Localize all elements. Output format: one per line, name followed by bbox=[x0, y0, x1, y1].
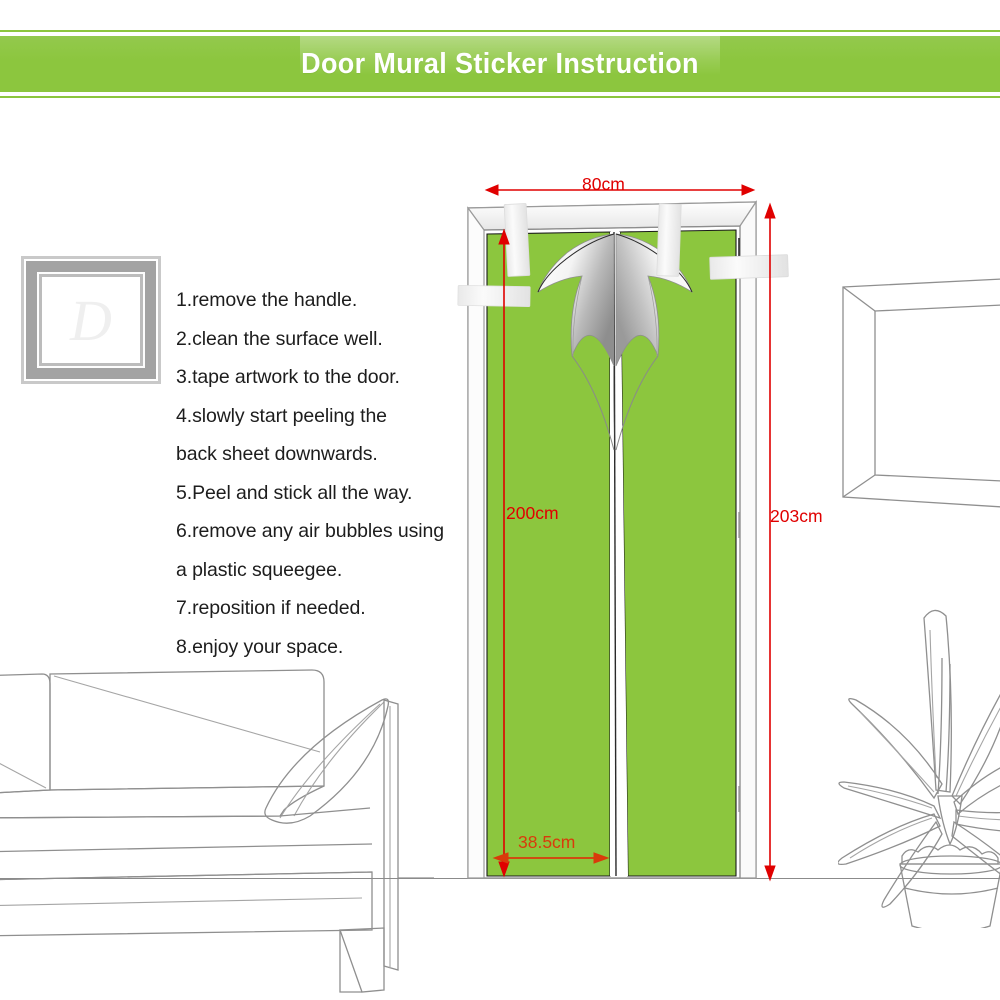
dimension-label-door-height: 203cm bbox=[770, 506, 823, 527]
dim-arrow-door-height bbox=[765, 204, 775, 880]
list-item: 3.tape artwork to the door. bbox=[176, 358, 476, 397]
dimension-label-panel-width: 38.5cm bbox=[518, 832, 575, 853]
list-item: 1.remove the handle. bbox=[176, 281, 476, 320]
page-title: Door Mural Sticker Instruction bbox=[35, 36, 965, 92]
list-item: 7.reposition if needed. bbox=[176, 589, 476, 628]
dimension-label-width-total: 80cm bbox=[582, 174, 625, 195]
potted-plant-illustration bbox=[838, 578, 1000, 928]
tape-right-side bbox=[710, 255, 789, 280]
list-item: 2.clean the surface well. bbox=[176, 320, 476, 359]
list-item: 4.slowly start peeling the bbox=[176, 397, 476, 436]
list-item: 6.remove any air bubbles using bbox=[176, 512, 476, 551]
banner-top-rule bbox=[0, 30, 1000, 32]
list-item: 5.Peel and stick all the way. bbox=[176, 474, 476, 513]
wall-picture-frame: D bbox=[21, 256, 161, 384]
sofa-illustration bbox=[0, 640, 434, 1000]
list-item: a plastic squeegee. bbox=[176, 551, 476, 590]
door-diagram bbox=[440, 160, 840, 920]
dimension-label-sticker-height: 200cm bbox=[506, 503, 559, 524]
tape-left-side bbox=[458, 285, 530, 306]
instruction-poster: Door Mural Sticker Instruction D 1.remov… bbox=[0, 0, 1000, 1000]
tape-top-right bbox=[657, 204, 681, 277]
wall-window-frame bbox=[835, 275, 1000, 515]
banner-bottom-rule bbox=[0, 96, 1000, 98]
header-banner: Door Mural Sticker Instruction bbox=[0, 30, 1000, 100]
frame-letter: D bbox=[21, 256, 161, 384]
instruction-list: 1.remove the handle. 2.clean the surface… bbox=[176, 281, 476, 666]
list-item: back sheet downwards. bbox=[176, 435, 476, 474]
